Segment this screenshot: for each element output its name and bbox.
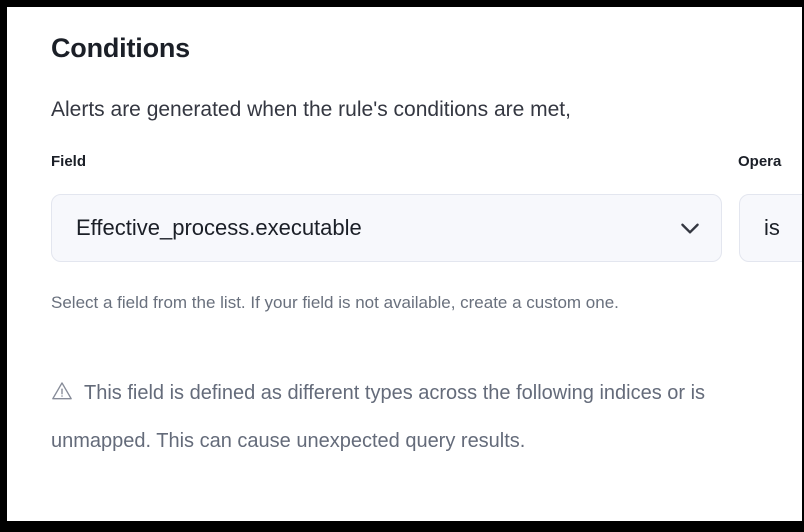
field-label: Field <box>51 153 86 170</box>
screenshot-frame: Conditions Alerts are generated when the… <box>0 0 804 532</box>
conditions-panel: Conditions Alerts are generated when the… <box>7 7 802 521</box>
warning-message: This field is defined as different types… <box>51 382 705 452</box>
section-description: Alerts are generated when the rule's con… <box>51 98 571 122</box>
operator-select-value: is <box>764 215 780 241</box>
chevron-down-icon[interactable] <box>677 215 703 241</box>
field-select[interactable]: Effective_process.executable <box>51 194 722 262</box>
page-title: Conditions <box>51 33 190 64</box>
field-helper-text: Select a field from the list. If your fi… <box>51 287 691 318</box>
operator-label: Opera <box>738 153 781 170</box>
operator-select[interactable]: is <box>739 194 802 262</box>
field-type-warning: This field is defined as different types… <box>51 369 711 465</box>
warning-triangle-icon <box>51 380 73 402</box>
field-select-value: Effective_process.executable <box>76 215 362 241</box>
